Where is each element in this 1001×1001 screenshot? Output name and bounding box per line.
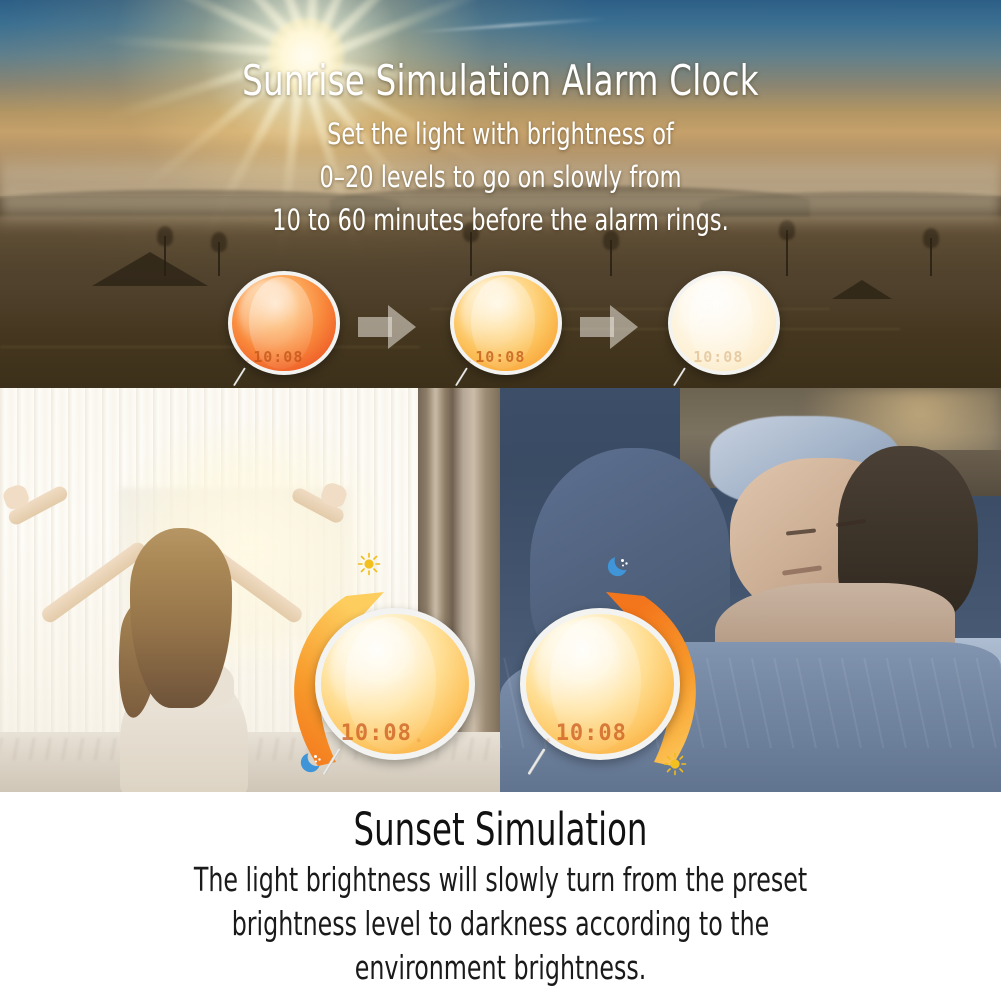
lamp-product-sunrise: 10:08 ☼ <box>315 608 475 760</box>
lamp-clock-display: ☼ 10:08 <box>246 350 327 365</box>
sun-icon <box>357 552 381 576</box>
clock-time: 10:08 <box>475 350 525 365</box>
lamp-stand <box>457 368 491 388</box>
clock-time: 10:08 <box>556 723 627 745</box>
lamp-clock-display: ☼ 10:08 <box>468 350 549 365</box>
lamp-clock-display: ☼ 10:08 <box>686 350 767 365</box>
bottom-line-1: The light brightness will slowly turn fr… <box>100 858 901 902</box>
bottom-line-3: environment brightness. <box>100 946 901 990</box>
clock-time: 10:08 <box>341 723 412 745</box>
lamp-clock-display: ☼ 10:08 <box>546 723 661 745</box>
lamp-product-sunset: ☼ 10:08 <box>520 608 680 760</box>
lamp-stage-2: ☼ 10:08 <box>450 271 562 375</box>
bottom-line-2: brightness level to darkness according t… <box>100 902 901 946</box>
lamp-stand <box>325 749 373 779</box>
hair <box>130 528 232 708</box>
clock-time: 10:08 <box>253 350 303 365</box>
lamp-stage-1: ☼ 10:08 <box>228 271 340 375</box>
banner-subline-2: 0–20 levels to go on slowly from <box>70 156 931 199</box>
lamp-clock-display: 10:08 ☼ <box>341 723 456 745</box>
product-marketing-image: Sunrise Simulation Alarm Clock Set the l… <box>0 0 1001 1001</box>
lamp-stand <box>235 368 269 388</box>
moon-icon <box>607 552 633 578</box>
clock-time: 10:08 <box>693 350 743 365</box>
hero-banner: Sunrise Simulation Alarm Clock Set the l… <box>0 0 1001 388</box>
arrow-right-icon <box>358 305 416 349</box>
banner-copy: Sunrise Simulation Alarm Clock Set the l… <box>0 0 1001 242</box>
lamp-stage-3: ☼ 10:08 <box>668 271 780 375</box>
banner-subline-1: Set the light with brightness of <box>70 113 931 156</box>
section-title: Sunset Simulation <box>100 804 901 856</box>
lamp-stand <box>530 749 578 779</box>
scene-panels <box>0 388 1001 792</box>
page-title: Sunrise Simulation Alarm Clock <box>70 56 931 105</box>
arrow-right-icon <box>580 305 638 349</box>
lamp-stand <box>675 368 709 388</box>
bottom-copy: Sunset Simulation The light brightness w… <box>0 792 1001 1001</box>
banner-subline-3: 10 to 60 minutes before the alarm rings. <box>70 199 931 242</box>
